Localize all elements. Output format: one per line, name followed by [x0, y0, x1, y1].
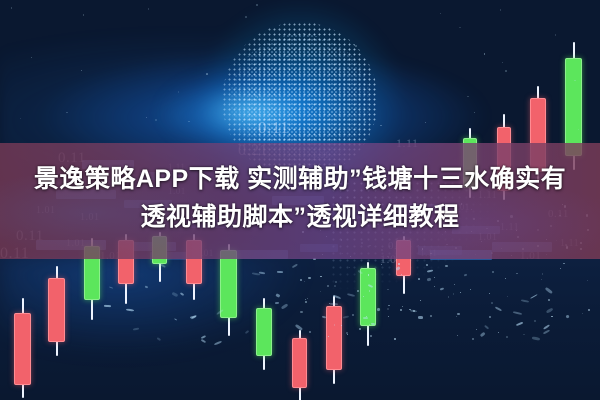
particle-streak [133, 327, 140, 330]
particle-streak [530, 294, 537, 299]
particle-streak [201, 339, 206, 343]
particle-dot [312, 106, 314, 108]
particle-streak [371, 323, 375, 326]
particle-streak [531, 336, 539, 340]
particle-dot [327, 285, 329, 287]
particle-streak [277, 271, 283, 273]
particle-dot [81, 70, 82, 71]
particle-dot [388, 305, 390, 307]
particle-dot [259, 52, 260, 53]
particle-streak [171, 291, 178, 296]
page-title-line-2: 透视辅助脚本”透视详细教程 [0, 198, 600, 236]
particle-dot [505, 70, 507, 72]
particle-streak [109, 287, 113, 290]
particle-dot [467, 96, 468, 97]
particle-dot [563, 263, 564, 264]
particle-streak [126, 309, 134, 312]
particle-dot [457, 313, 459, 315]
particle-dot [574, 80, 575, 81]
particle-dot [349, 267, 351, 269]
particle-dot [341, 325, 342, 326]
particle-streak [295, 324, 303, 331]
particle-dot [454, 284, 455, 285]
particle-dot [456, 316, 457, 317]
particle-dot [322, 40, 323, 41]
particle-streak [214, 340, 222, 345]
particle-dot [307, 298, 308, 299]
particle-dot [516, 273, 518, 275]
particle-streak [180, 293, 184, 297]
particle-streak [546, 308, 554, 314]
particle-dot [453, 293, 455, 295]
particle-dot [320, 291, 321, 292]
particle-dot [188, 121, 190, 123]
particle-dot [394, 338, 395, 339]
page-title: 景逸策略APP下载 实测辅助”钱塘十三水确实有 透视辅助脚本”透视详细教程 [0, 160, 600, 236]
particle-dot [148, 8, 149, 9]
particle-dot [291, 114, 292, 115]
particle-dot [472, 338, 474, 340]
particle-dot [459, 27, 460, 28]
particle-dot [541, 279, 542, 280]
particle-streak [368, 284, 373, 288]
particle-streak [330, 303, 338, 305]
particle-dot [445, 265, 447, 267]
particle-streak [201, 335, 207, 339]
particle-dot [434, 286, 435, 287]
particle-dot [357, 290, 359, 292]
particle-streak [346, 293, 354, 297]
particle-dot [286, 56, 288, 58]
particle-dot [387, 289, 389, 291]
particle-dot [334, 324, 335, 325]
particle-dot [578, 129, 579, 130]
particle-streak [157, 337, 161, 340]
particle-streak [158, 262, 165, 267]
particle-streak [495, 306, 502, 311]
particle-dot [363, 296, 364, 297]
particle-streak [144, 285, 148, 288]
particle-dot [502, 62, 503, 63]
particle-dot [489, 316, 491, 318]
particle-dot [505, 278, 506, 279]
particle-dot [369, 290, 371, 292]
particle-dot [320, 276, 322, 278]
particle-dot [542, 273, 543, 274]
particle-dot [440, 13, 441, 14]
particle-dot [300, 311, 302, 313]
particle-dot [582, 313, 583, 314]
particle-dot [506, 336, 508, 338]
particle-dot [402, 306, 403, 307]
particle-dot [470, 289, 471, 290]
particle-dot [587, 280, 588, 281]
particle-streak [464, 274, 468, 277]
particle-dot [146, 117, 147, 118]
particle-dot [484, 53, 486, 55]
particle-dot [31, 57, 32, 58]
particle-dot [400, 309, 402, 311]
particle-streak [216, 309, 224, 316]
particle-dot [66, 112, 67, 113]
particle-streak [545, 287, 553, 294]
particle-dot [448, 296, 449, 297]
particle-dot [295, 120, 296, 121]
particle-dot [434, 277, 435, 278]
particle-dot [364, 121, 366, 123]
particle-streak [566, 314, 570, 318]
particle-streak [426, 270, 433, 273]
particle-dot [305, 301, 307, 303]
particle-dot [308, 277, 310, 279]
particle-dot [476, 329, 477, 330]
particle-streak [245, 330, 249, 334]
particle-streak [174, 318, 178, 321]
particle-dot [304, 281, 305, 282]
particle-dot [426, 264, 428, 266]
particle-dot [242, 121, 243, 122]
particle-dot [256, 4, 258, 6]
particle-streak [543, 329, 550, 334]
particle-dot [328, 336, 329, 337]
particle-streak [521, 299, 529, 302]
particle-dot [257, 96, 258, 97]
particle-dot [300, 279, 302, 281]
particle-streak [516, 322, 523, 326]
particle-streak [275, 302, 279, 304]
particle-streak [281, 303, 288, 309]
particle-dot [206, 73, 208, 75]
particle-dot [534, 320, 536, 322]
particle-streak [484, 325, 489, 330]
particle-dot [334, 285, 336, 287]
particle-dot [560, 268, 562, 270]
particle-streak [377, 308, 381, 311]
particle-streak [395, 266, 400, 271]
particle-dot [178, 91, 180, 93]
particle-dot [11, 7, 12, 8]
particle-dot [387, 308, 389, 310]
particle-streak [480, 332, 486, 337]
particle-streak [418, 316, 423, 319]
particle-streak [291, 264, 297, 269]
particle-dot [500, 9, 501, 10]
particle-streak [332, 294, 340, 299]
particle-dot [491, 302, 493, 304]
particle-streak [343, 315, 350, 319]
particle-dot [83, 14, 85, 16]
particle-dot [425, 122, 427, 124]
particle-dot [555, 34, 557, 36]
particle-dot [352, 314, 354, 316]
particle-streak [439, 287, 443, 290]
particle-dot [355, 45, 357, 47]
particle-streak [427, 277, 432, 281]
particle-dot [460, 292, 461, 293]
particle-dot [289, 69, 290, 70]
particle-dot [368, 274, 369, 275]
particle-dot [20, 118, 21, 119]
particle-streak [104, 305, 111, 307]
particle-streak [410, 309, 418, 312]
particle-streak [363, 317, 368, 319]
particle-dot [381, 264, 382, 265]
particle-dot [309, 331, 311, 333]
particle-dot [492, 271, 494, 273]
particle-dot [370, 335, 372, 337]
particle-dot [420, 300, 421, 301]
particle-streak [358, 270, 363, 274]
particle-dot [489, 293, 490, 294]
particle-dot [283, 35, 284, 36]
particle-streak [275, 293, 280, 297]
particle-dot [551, 316, 553, 318]
particle-dot [474, 112, 475, 113]
particle-dot [401, 274, 402, 275]
particle-dot [588, 309, 590, 311]
particle-streak [513, 311, 522, 315]
particle-dot [303, 33, 304, 34]
particle-dot [245, 16, 247, 18]
particle-dot [347, 334, 348, 335]
particle-dot [335, 281, 337, 283]
particle-dot [359, 328, 361, 330]
particle-dot [498, 332, 499, 333]
particle-dot [548, 299, 550, 301]
particle-dot [457, 335, 458, 336]
particle-streak [322, 316, 326, 319]
particle-dot [155, 119, 156, 120]
page-title-line-1: 景逸策略APP下载 实测辅助”钱塘十三水确实有 [0, 160, 600, 198]
particle-dot [430, 315, 432, 317]
particle-dot [380, 125, 382, 127]
particle-dot [507, 296, 508, 297]
particle-dot [523, 334, 525, 336]
particle-dot [398, 263, 400, 265]
screenshot-root: 0.111.110.211.011.010.110.111.011.010.11… [0, 0, 600, 400]
particle-dot [388, 316, 389, 317]
particle-dot [418, 278, 420, 280]
particle-dot [346, 332, 348, 334]
